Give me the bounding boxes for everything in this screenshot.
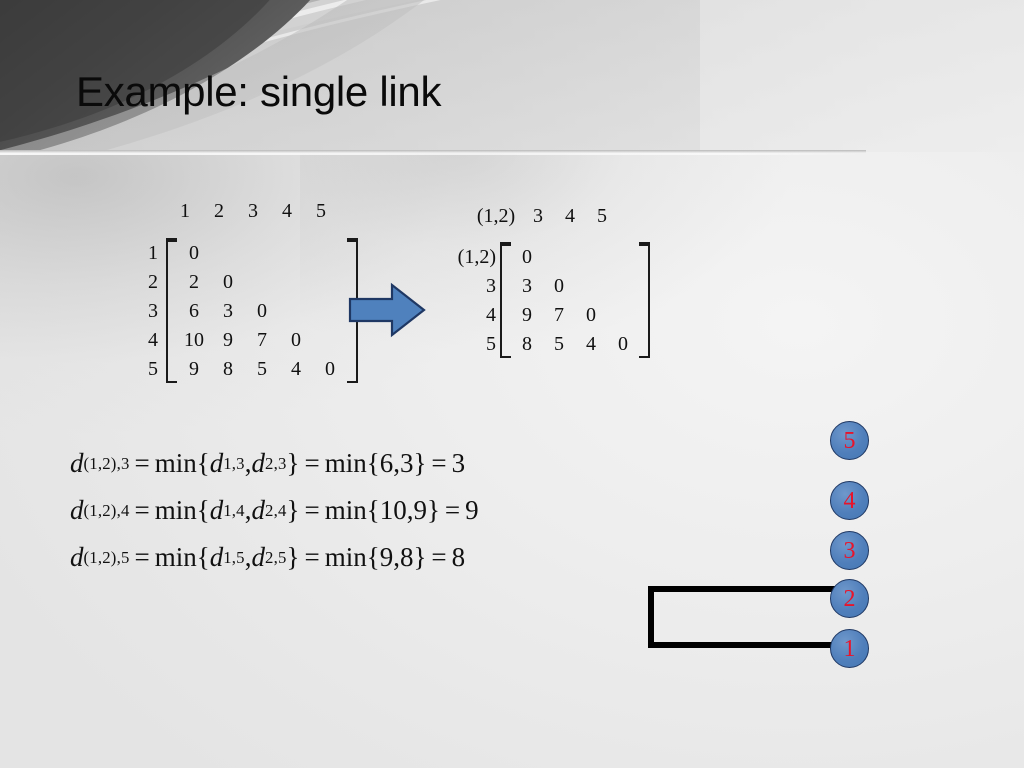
eq-equals-2: = (300, 448, 325, 479)
matrix-cell: 10 (177, 325, 211, 354)
col-header: 3 (236, 200, 270, 223)
col-header: 5 (586, 205, 618, 228)
matrix-row: 2 0 (177, 267, 347, 296)
matrix-cell: 9 (211, 325, 245, 354)
matrix-cell: 5 (543, 329, 575, 358)
eq-equals-3: = (426, 448, 451, 479)
bracket-right (639, 242, 650, 358)
eq-arg-a-variable: d (210, 448, 224, 479)
eq-arg-a-variable: d (210, 495, 224, 526)
eq-lhs-variable: d (70, 542, 84, 573)
dendrogram-node-3[interactable]: 3 (830, 531, 869, 570)
matrix-row: 0 (177, 238, 347, 267)
matrix-cell: 7 (543, 300, 575, 329)
matrix-row: 3 0 (511, 271, 639, 300)
eq-arg-a-subscript: 1,5 (223, 548, 245, 568)
matrix-cell: 6 (177, 296, 211, 325)
matrix-cell: 0 (313, 354, 347, 383)
matrix-cell: 3 (211, 296, 245, 325)
dendrogram-node-1[interactable]: 1 (830, 629, 869, 668)
eq-equals: = (130, 542, 155, 573)
equation-row: d(1,2),3 = min{ d1,3, d2,3} = min{6,3} =… (70, 440, 479, 487)
eq-result: 8 (452, 542, 466, 573)
row-label: 3 (448, 271, 496, 300)
matrix-before-cells: 0 2 0 6 3 0 10 9 7 0 (177, 238, 347, 383)
single-link-equations: d(1,2),3 = min{ d1,3, d2,3} = min{6,3} =… (70, 440, 479, 581)
eq-arg-b-subscript: 2,3 (265, 454, 287, 474)
matrix-cell: 8 (511, 329, 543, 358)
matrix-cell: 0 (543, 271, 575, 300)
eq-arg-a-subscript: 1,3 (223, 454, 245, 474)
matrix-cell: 8 (211, 354, 245, 383)
matrix-row: 10 9 7 0 (177, 325, 347, 354)
col-header: 2 (202, 200, 236, 223)
eq-arg-b-subscript: 2,4 (265, 501, 287, 521)
matrix-after-cells: 0 3 0 9 7 0 8 5 4 0 (511, 242, 639, 358)
eq-lhs-subscript: (1,2),4 (84, 501, 130, 521)
eq-arg-b-variable: d (252, 495, 266, 526)
matrix-cell: 7 (245, 325, 279, 354)
bracket-left (166, 238, 177, 383)
matrix-cell: 5 (245, 354, 279, 383)
matrix-row: 9 7 0 (511, 300, 639, 329)
matrix-before-row-labels: 1 2 3 4 5 (140, 238, 158, 383)
matrix-cell: 4 (279, 354, 313, 383)
page-title: Example: single link (76, 68, 441, 116)
eq-arg-a-variable: d (210, 542, 224, 573)
eq-comma: , (245, 542, 252, 573)
eq-equals-2: = (300, 495, 325, 526)
matrix-cell: 0 (279, 325, 313, 354)
eq-min-open: min{ (155, 542, 210, 573)
eq-min-open: min{ (155, 495, 210, 526)
eq-comma: , (245, 495, 252, 526)
eq-lhs-variable: d (70, 495, 84, 526)
matrix-before-column-headers: 1 2 3 4 5 (168, 200, 338, 223)
eq-values: 6,3 (380, 448, 414, 479)
row-label: 4 (140, 325, 158, 354)
eq-result: 3 (452, 448, 466, 479)
matrix-cell: 0 (575, 300, 607, 329)
eq-result: 9 (465, 495, 479, 526)
header-divider-highlight (0, 153, 866, 155)
eq-close-brace: } (287, 448, 300, 479)
matrix-after-body: (1,2) 3 4 5 0 3 0 9 (448, 242, 650, 358)
right-arrow-icon (348, 282, 426, 343)
col-header: (1,2) (470, 205, 522, 228)
eq-equals-2: = (300, 542, 325, 573)
matrix-after-column-headers: (1,2) 3 4 5 (470, 205, 618, 228)
matrix-after-brackets: 0 3 0 9 7 0 8 5 4 0 (500, 242, 650, 358)
row-label: 3 (140, 296, 158, 325)
eq-min-open-2: min{ (325, 495, 380, 526)
dendrogram-node-4[interactable]: 4 (830, 481, 869, 520)
col-header: 4 (270, 200, 304, 223)
col-header: 1 (168, 200, 202, 223)
eq-equals-3: = (426, 542, 451, 573)
eq-equals: = (130, 448, 155, 479)
slide-canvas: Example: single link 1 2 3 4 5 1 2 3 4 5 (0, 0, 1024, 768)
matrix-cell: 0 (211, 267, 245, 296)
col-header: 4 (554, 205, 586, 228)
eq-arg-a-subscript: 1,4 (223, 501, 245, 521)
matrix-cell: 3 (511, 271, 543, 300)
col-header: 5 (304, 200, 338, 223)
matrix-cell: 2 (177, 267, 211, 296)
matrix-cell: 4 (575, 329, 607, 358)
matrix-cell: 0 (245, 296, 279, 325)
eq-close-brace: } (287, 542, 300, 573)
col-header: 3 (522, 205, 554, 228)
row-label: 5 (448, 329, 496, 358)
matrix-cell: 9 (177, 354, 211, 383)
eq-close-brace-2: } (413, 542, 426, 573)
matrix-cell: 0 (511, 242, 543, 271)
eq-lhs-subscript: (1,2),5 (84, 548, 130, 568)
matrix-cell: 9 (511, 300, 543, 329)
row-label: 5 (140, 354, 158, 383)
eq-equals-3: = (440, 495, 465, 526)
matrix-row: 8 5 4 0 (511, 329, 639, 358)
equation-row: d(1,2),5 = min{ d1,5, d2,5} = min{9,8} =… (70, 534, 479, 581)
merge-link-vertical (648, 586, 654, 648)
node-label: 2 (844, 587, 856, 611)
merge-link-top (648, 586, 848, 592)
matrix-before-body: 1 2 3 4 5 0 2 0 (140, 238, 358, 383)
single-link-dendrogram: 5 4 3 2 1 (630, 410, 890, 685)
equation-row: d(1,2),4 = min{ d1,4, d2,4} = min{10,9} … (70, 487, 479, 534)
matrix-after-row-labels: (1,2) 3 4 5 (448, 242, 496, 358)
eq-arg-b-variable: d (252, 542, 266, 573)
dendrogram-node-2[interactable]: 2 (830, 579, 869, 618)
row-label: 2 (140, 267, 158, 296)
eq-close-brace-2: } (427, 495, 440, 526)
eq-arg-b-subscript: 2,5 (265, 548, 287, 568)
dendrogram-node-5[interactable]: 5 (830, 421, 869, 460)
matrix-row: 6 3 0 (177, 296, 347, 325)
matrix-row: 9 8 5 4 0 (177, 354, 347, 383)
row-label: (1,2) (448, 242, 496, 271)
eq-min-open: min{ (155, 448, 210, 479)
eq-equals: = (130, 495, 155, 526)
eq-comma: , (245, 448, 252, 479)
eq-arg-b-variable: d (252, 448, 266, 479)
eq-close-brace-2: } (413, 448, 426, 479)
matrix-row: 0 (511, 242, 639, 271)
matrix-cell: 0 (607, 329, 639, 358)
bracket-left (500, 242, 511, 358)
merge-link-bottom (648, 642, 848, 648)
row-label: 4 (448, 300, 496, 329)
eq-values: 10,9 (380, 495, 427, 526)
node-label: 4 (844, 489, 856, 513)
eq-min-open-2: min{ (325, 542, 380, 573)
node-label: 5 (844, 429, 856, 453)
row-label: 1 (140, 238, 158, 267)
eq-lhs-subscript: (1,2),3 (84, 454, 130, 474)
matrix-before-brackets: 0 2 0 6 3 0 10 9 7 0 (166, 238, 358, 383)
eq-close-brace: } (287, 495, 300, 526)
matrix-cell: 0 (177, 238, 211, 267)
node-label: 1 (844, 637, 856, 661)
eq-values: 9,8 (380, 542, 414, 573)
eq-lhs-variable: d (70, 448, 84, 479)
eq-min-open-2: min{ (325, 448, 380, 479)
node-label: 3 (844, 539, 856, 563)
